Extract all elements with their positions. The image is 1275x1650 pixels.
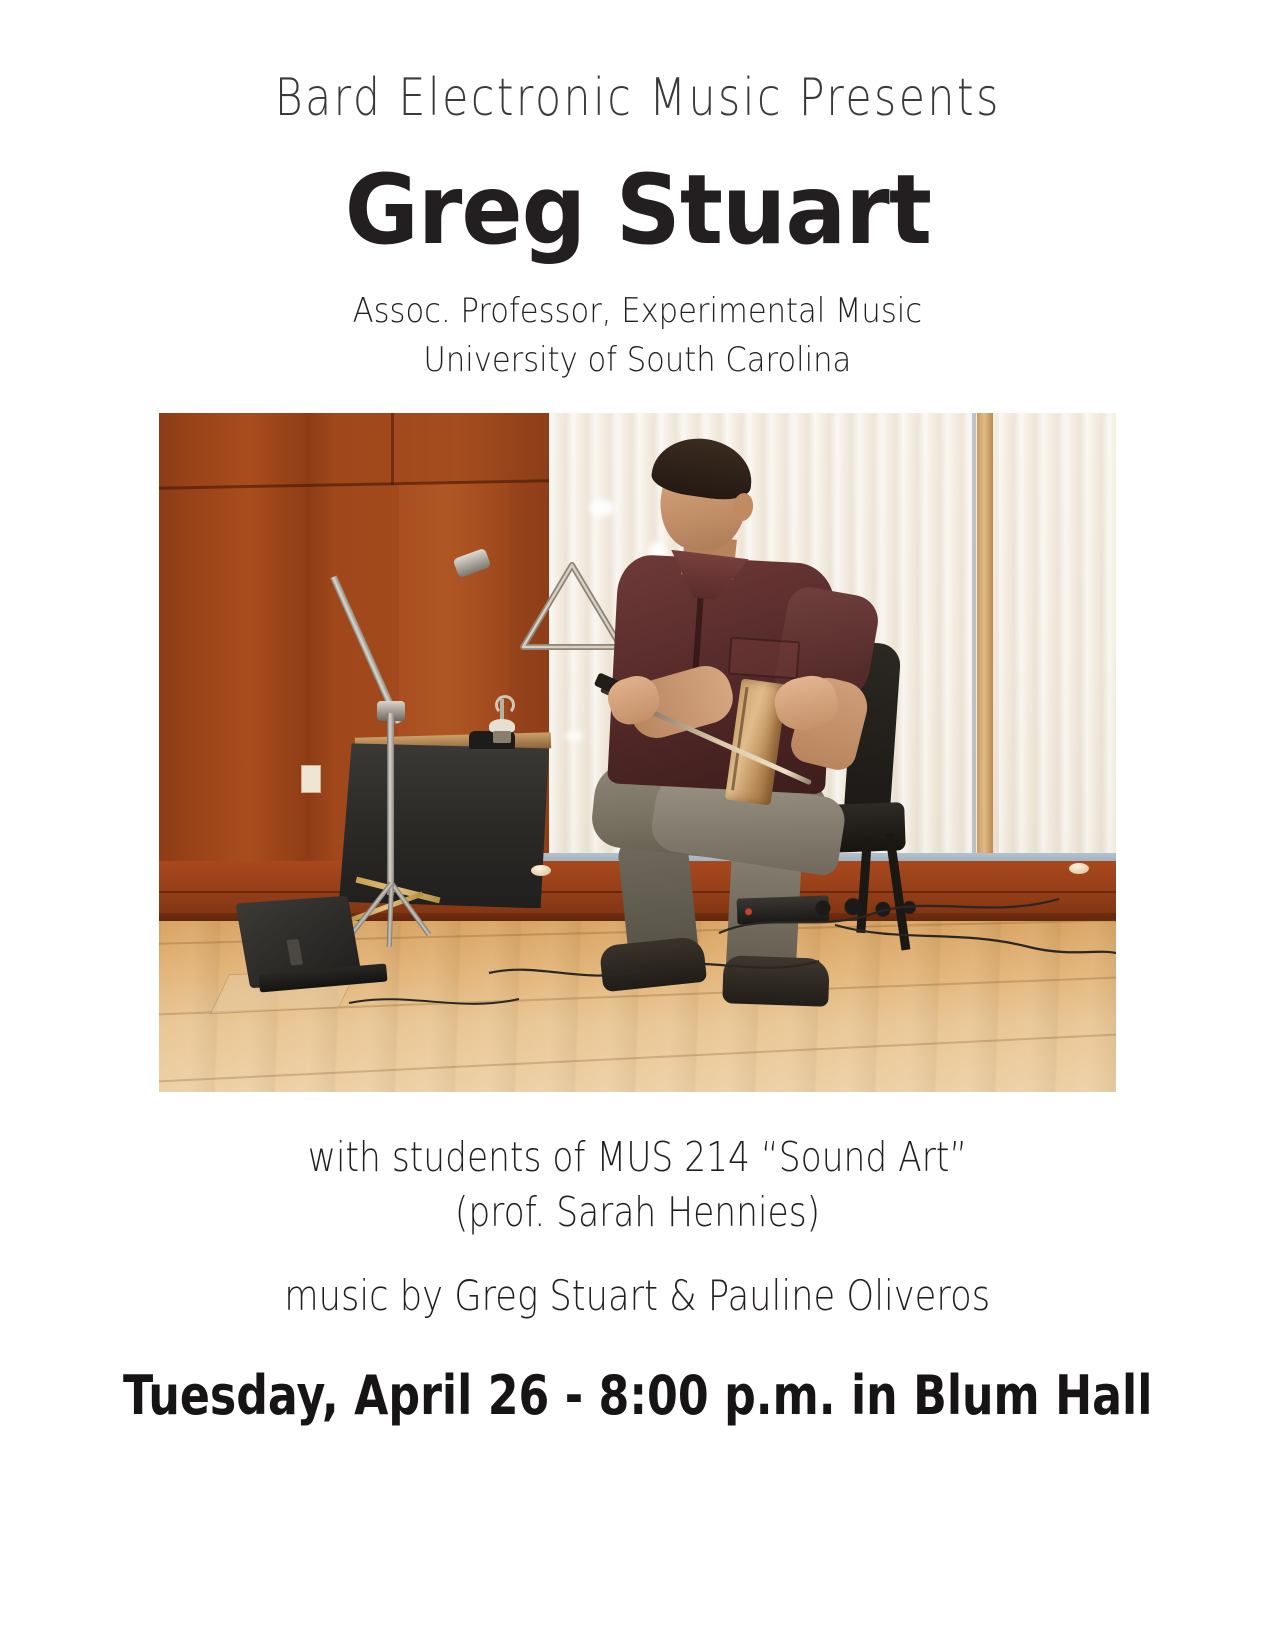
page-title: Greg Stuart xyxy=(344,160,930,261)
music-by-line: music by Greg Stuart & Pauline Oliveros xyxy=(285,1271,991,1320)
performance-photo xyxy=(159,413,1116,1092)
credentials-line-1: Assoc. Professor, Experimental Music xyxy=(353,287,922,336)
photo-canvas xyxy=(159,413,1116,1092)
presenter-line: Bard Electronic Music Presents xyxy=(274,72,1000,124)
students-line-2: (prof. Sarah Hennies) xyxy=(308,1185,967,1239)
event-datetime-location: Tuesday, April 26 - 8:00 p.m. in Blum Ha… xyxy=(123,1364,1152,1427)
credentials-line-2: University of South Carolina xyxy=(353,336,922,385)
credentials-block: Assoc. Professor, Experimental Music Uni… xyxy=(353,287,922,386)
students-line-1: with students of MUS 214 “Sound Art” xyxy=(308,1130,967,1184)
students-block: with students of MUS 214 “Sound Art” (pr… xyxy=(308,1130,967,1238)
poster-page: Bard Electronic Music Presents Greg Stua… xyxy=(0,0,1275,1650)
